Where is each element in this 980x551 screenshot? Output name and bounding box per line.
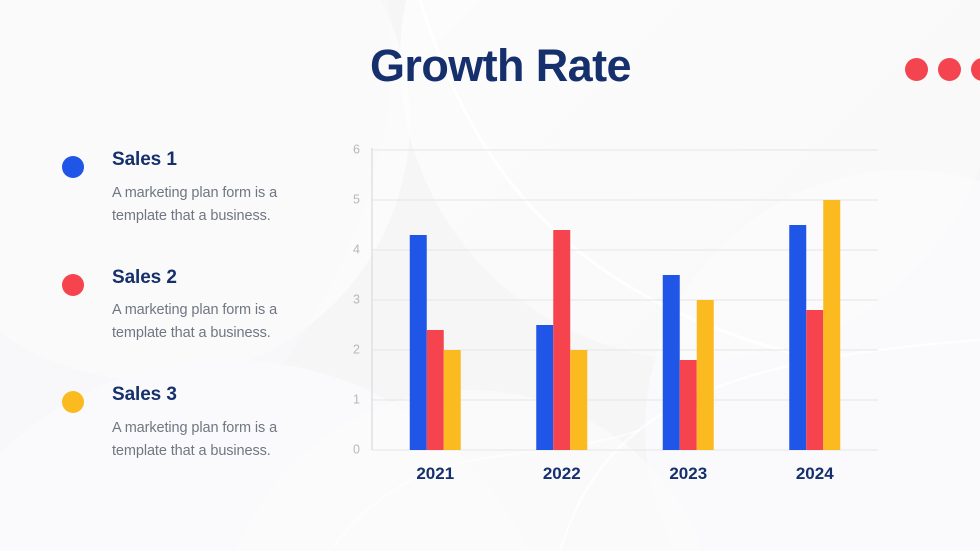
bar-sales-2-2023[interactable] <box>680 360 697 450</box>
deco-dot-2 <box>938 58 961 81</box>
y-tick-label-1: 1 <box>353 392 360 406</box>
y-tick-label-2: 2 <box>353 342 360 356</box>
legend-dot-sales-3 <box>62 391 84 413</box>
bar-sales-1-2021[interactable] <box>410 235 427 450</box>
decorative-dots-group <box>905 58 980 81</box>
legend-item-sales-3[interactable]: Sales 3 A marketing plan form is a templ… <box>62 383 312 463</box>
x-axis-label-2024: 2024 <box>796 464 834 483</box>
legend-dot-sales-2 <box>62 274 84 296</box>
deco-dot-3 <box>971 58 980 81</box>
legend-label-sales-1: Sales 1 <box>112 148 312 173</box>
bars-group <box>410 200 841 450</box>
bar-sales-1-2022[interactable] <box>536 325 553 450</box>
x-axis-label-2022: 2022 <box>543 464 581 483</box>
bar-sales-3-2022[interactable] <box>570 350 587 450</box>
y-tick-label-3: 3 <box>353 292 360 306</box>
legend-item-sales-2[interactable]: Sales 2 A marketing plan form is a templ… <box>62 266 312 346</box>
bar-sales-2-2024[interactable] <box>806 310 823 450</box>
y-tick-label-6: 6 <box>353 142 360 156</box>
legend-description-sales-3: A marketing plan form is a template that… <box>112 417 302 463</box>
y-axis-ticks-group: 0123456 <box>353 142 360 456</box>
legend-label-sales-3: Sales 3 <box>112 383 312 408</box>
bar-chart: 0123456 2021202220232024 <box>340 130 900 490</box>
x-axis-label-2023: 2023 <box>669 464 707 483</box>
bar-sales-2-2021[interactable] <box>427 330 444 450</box>
bar-sales-3-2024[interactable] <box>823 200 840 450</box>
deco-dot-1 <box>905 58 928 81</box>
bar-sales-1-2024[interactable] <box>789 225 806 450</box>
bar-sales-3-2021[interactable] <box>444 350 461 450</box>
bar-sales-3-2023[interactable] <box>697 300 714 450</box>
page-title: Growth Rate <box>370 40 631 92</box>
y-tick-label-5: 5 <box>353 192 360 206</box>
y-tick-label-0: 0 <box>353 442 360 456</box>
x-axis-label-2021: 2021 <box>416 464 454 483</box>
legend-description-sales-1: A marketing plan form is a template that… <box>112 182 302 228</box>
legend-dot-sales-1 <box>62 156 84 178</box>
bar-chart-svg: 0123456 2021202220232024 <box>340 130 900 490</box>
legend-item-sales-1[interactable]: Sales 1 A marketing plan form is a templ… <box>62 148 312 228</box>
bar-sales-2-2022[interactable] <box>553 230 570 450</box>
y-tick-label-4: 4 <box>353 242 360 256</box>
legend-description-sales-2: A marketing plan form is a template that… <box>112 299 302 345</box>
x-axis-labels-group: 2021202220232024 <box>416 464 834 483</box>
legend-list: Sales 1 A marketing plan form is a templ… <box>62 148 312 501</box>
legend-label-sales-2: Sales 2 <box>112 266 312 291</box>
bar-sales-1-2023[interactable] <box>663 275 680 450</box>
